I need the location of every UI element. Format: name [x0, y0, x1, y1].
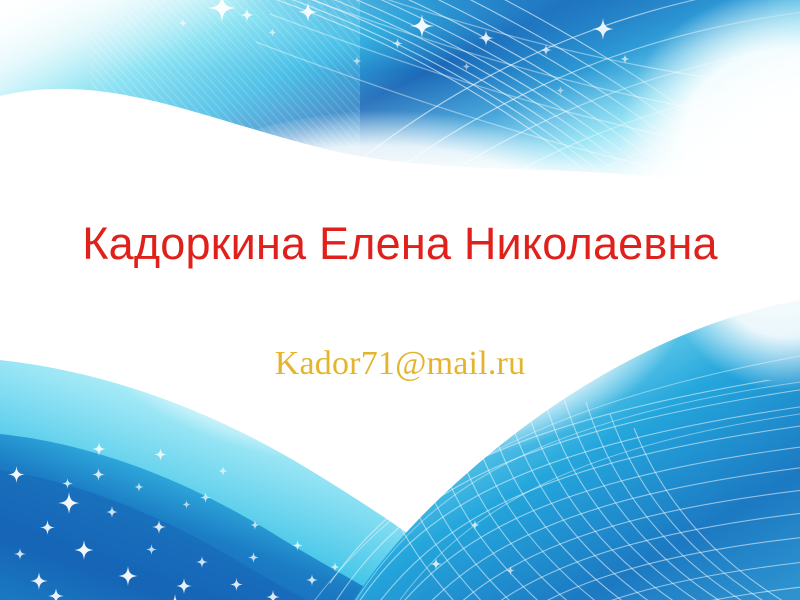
- email-address: Kador71@mail.ru: [0, 344, 800, 383]
- page-title: Кадоркина Елена Николаевна: [0, 218, 800, 270]
- slide-content: Кадоркина Елена Николаевна Kador71@mail.…: [0, 0, 800, 600]
- presentation-slide: Кадоркина Елена Николаевна Kador71@mail.…: [0, 0, 800, 600]
